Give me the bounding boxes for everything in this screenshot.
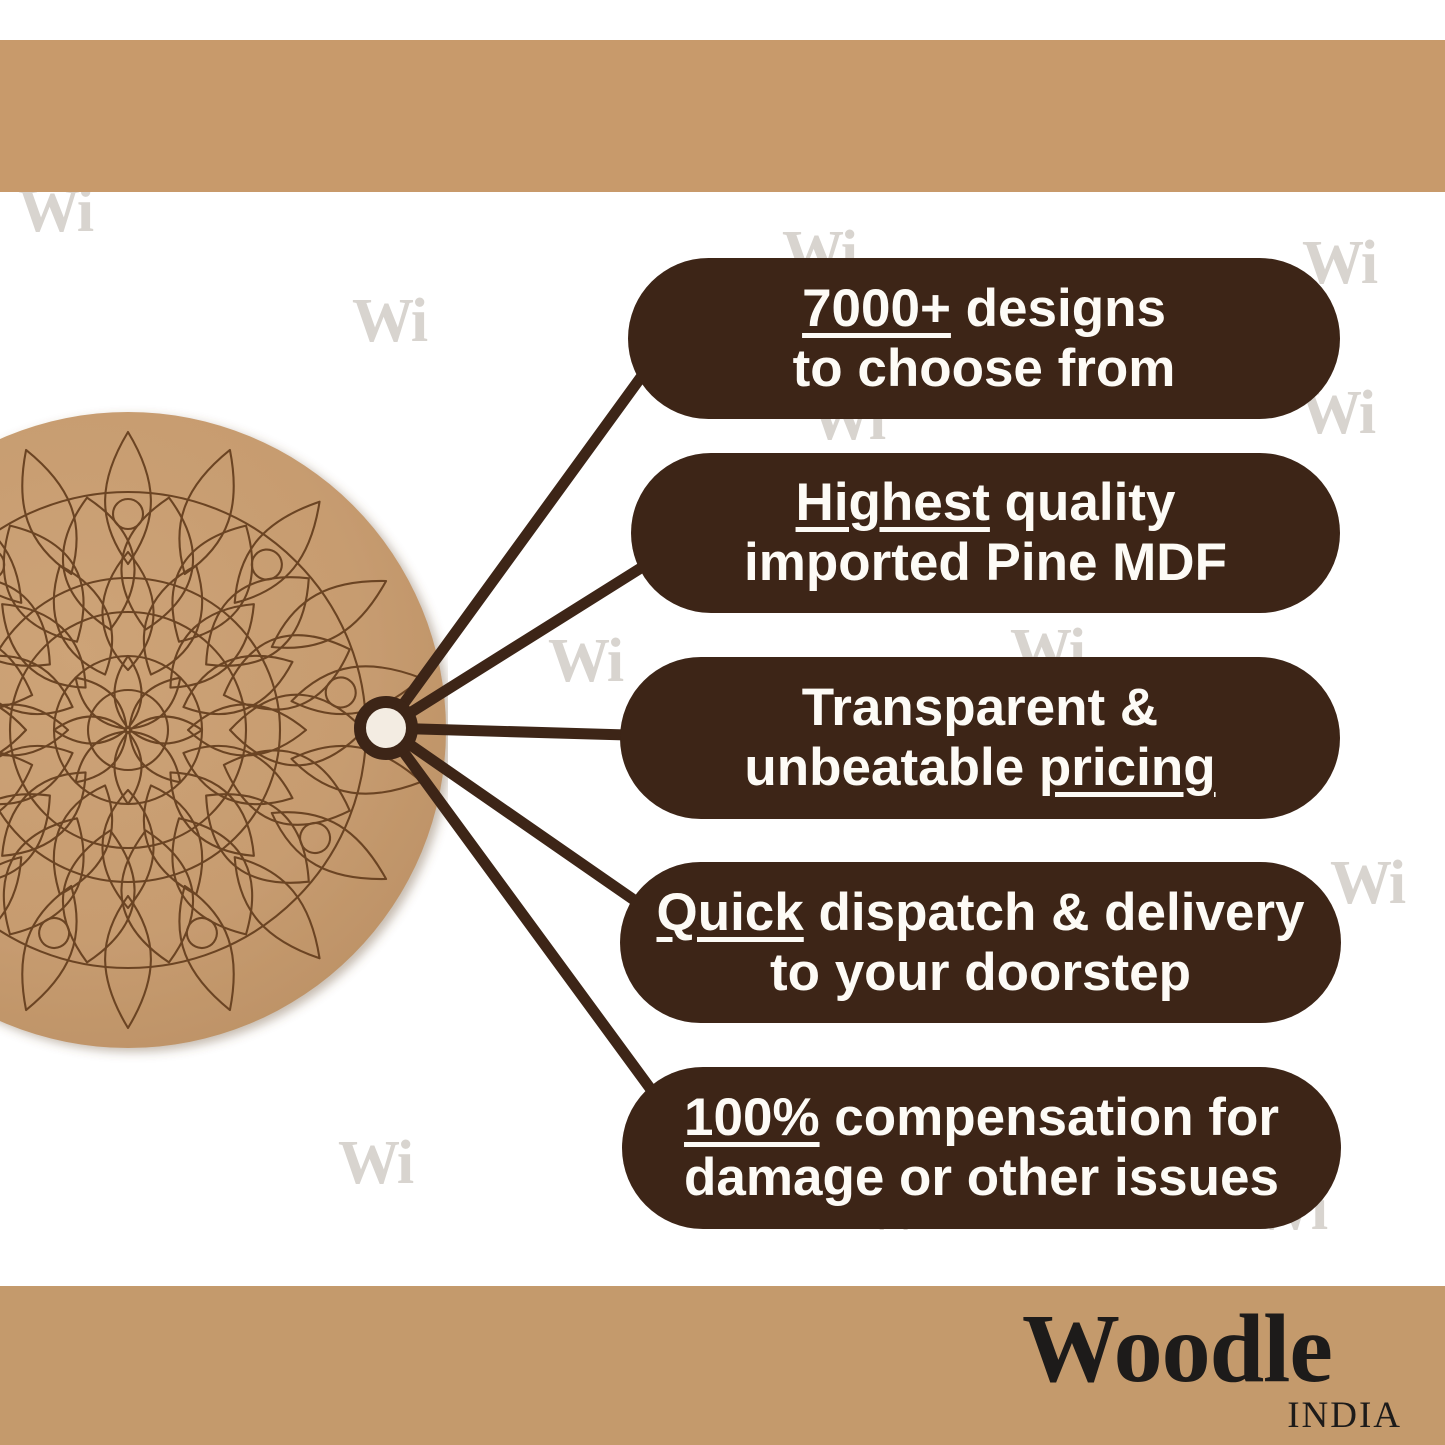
- usp-pill-dispatch[interactable]: Quick dispatch & delivery to your doorst…: [620, 862, 1341, 1023]
- usp-pill-pricing[interactable]: Transparent & unbeatable pricing: [620, 657, 1340, 819]
- header-band: [0, 40, 1445, 192]
- usp-line-1: 100% compensation for: [684, 1088, 1279, 1148]
- usp-line-2: to your doorstep: [656, 943, 1304, 1003]
- usp-pill-quality[interactable]: Highest quality imported Pine MDF: [631, 453, 1340, 613]
- watermark-wi: Wi: [1330, 852, 1404, 914]
- usp-highlight: Quick: [656, 883, 803, 942]
- brand-logo: Woodle INDIA: [1022, 1300, 1412, 1430]
- usp-highlight: Highest: [796, 473, 990, 532]
- usp-line-1: Quick dispatch & delivery: [656, 883, 1304, 943]
- mandala-mdf-board: [0, 298, 448, 1168]
- watermark-wi: Wi: [548, 630, 622, 692]
- usp-line-2: damage or other issues: [684, 1148, 1279, 1208]
- usp-pill-designs[interactable]: 7000+ designs to choose from: [628, 258, 1340, 419]
- usp-line-1: Highest quality: [744, 473, 1227, 533]
- usp-highlight: pricing: [1039, 738, 1216, 797]
- infographic-page: Wi Wi Wi Wi Wi Wi Wi Wi Wi Wi Wi Wi: [0, 0, 1445, 1445]
- usp-line-1: 7000+ designs: [793, 279, 1176, 339]
- usp-line-2: imported Pine MDF: [744, 533, 1227, 593]
- usp-highlight: 100%: [684, 1088, 820, 1147]
- usp-line-2: to choose from: [793, 339, 1176, 399]
- usp-highlight: 7000+: [802, 279, 951, 338]
- usp-pill-compensation[interactable]: 100% compensation for damage or other is…: [622, 1067, 1341, 1229]
- usp-line-2: unbeatable pricing: [744, 738, 1215, 798]
- logo-wordmark: Woodle: [1022, 1300, 1412, 1398]
- usp-line-1: Transparent &: [744, 678, 1215, 738]
